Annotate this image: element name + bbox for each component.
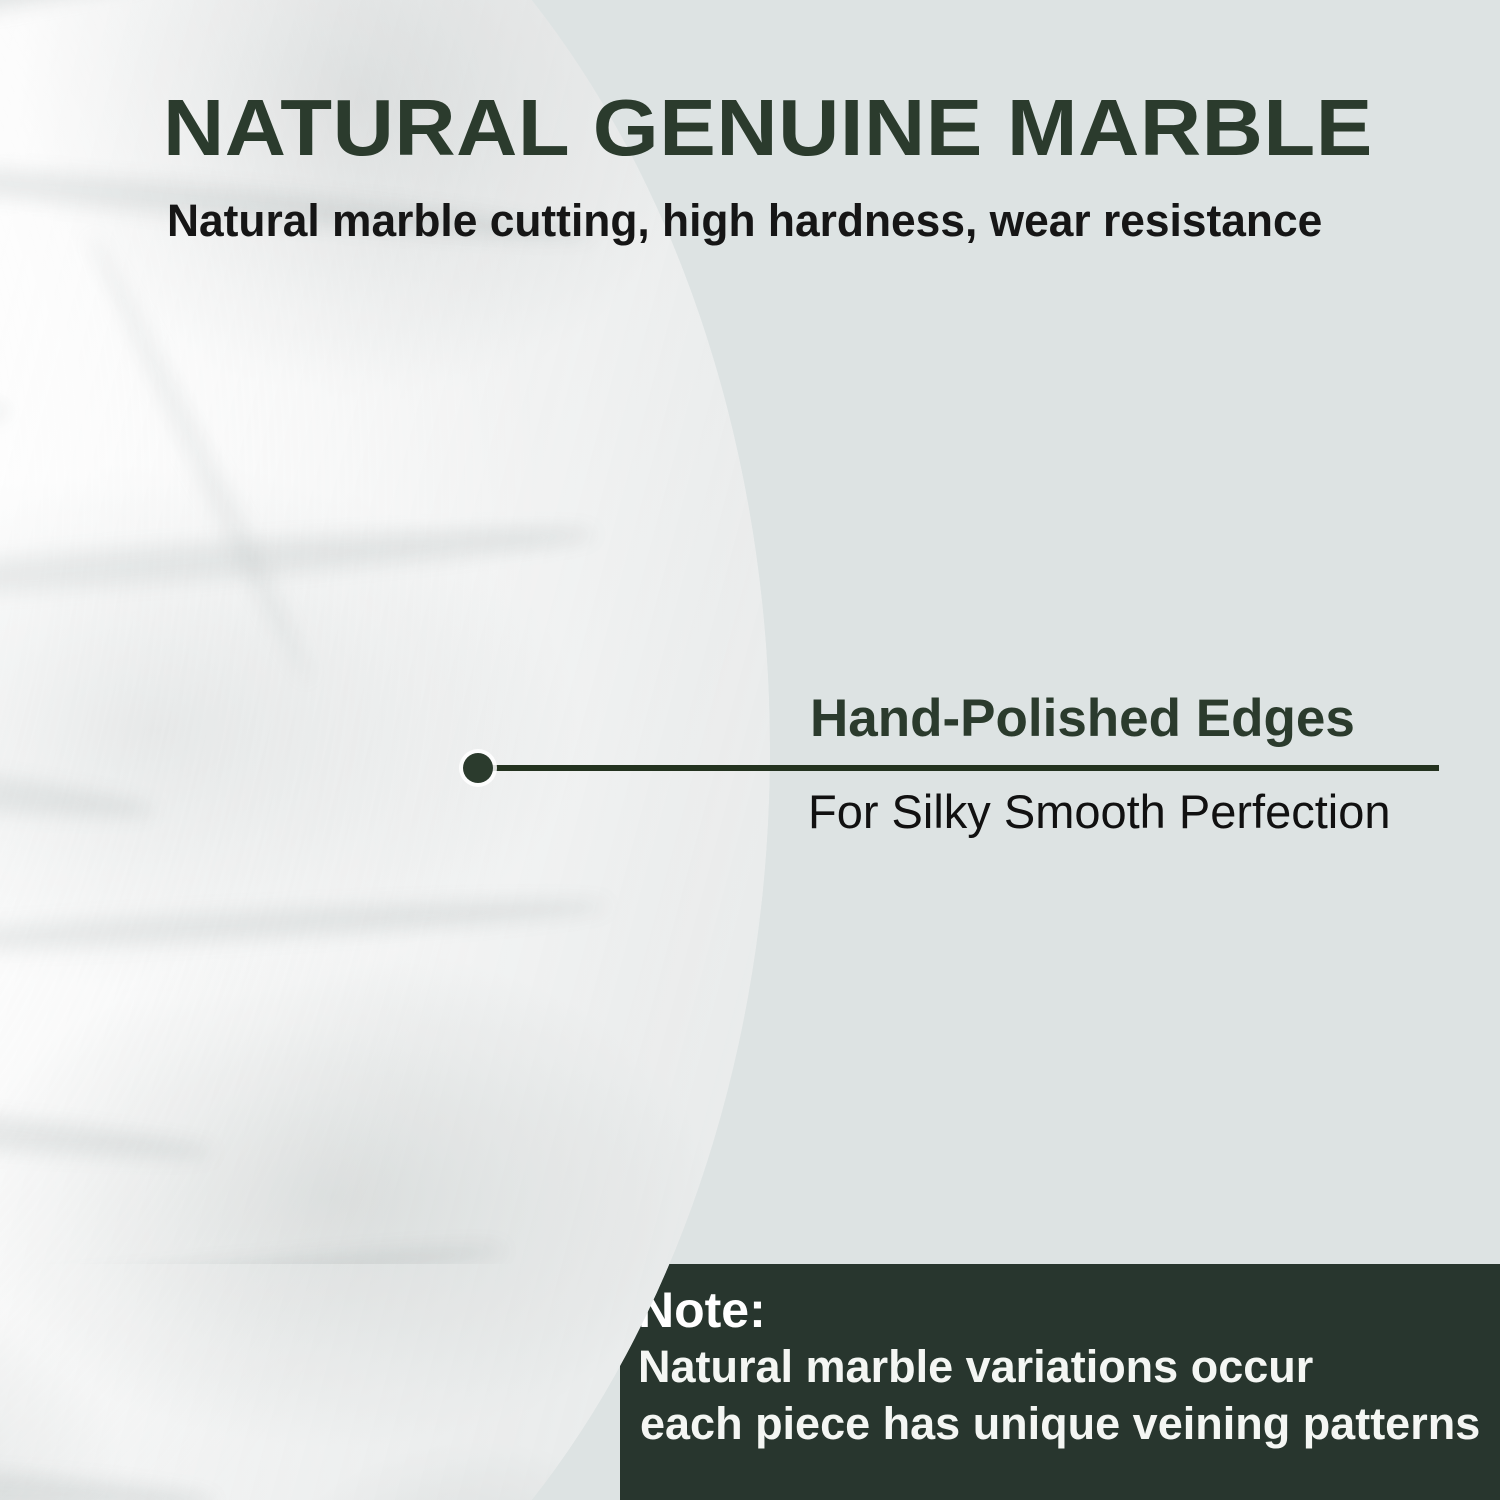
note-content: Note: Natural marble variations occur ea… — [638, 1282, 1500, 1452]
note-line-1: Natural marble variations occur — [638, 1338, 1500, 1395]
callout-subtitle: For Silky Smooth Perfection — [808, 785, 1478, 839]
leader-line — [487, 765, 1439, 771]
note-line-2: each piece has unique veining patterns — [640, 1395, 1500, 1452]
callout-title: Hand-Polished Edges — [810, 690, 1450, 748]
page-title: NATURAL GENUINE MARBLE — [163, 88, 1424, 168]
dot-marker-icon — [463, 753, 493, 783]
page-subtitle: Natural marble cutting, high hardness, w… — [167, 196, 1329, 246]
note-label: Note: — [638, 1282, 1500, 1338]
product-feature-graphic: NATURAL GENUINE MARBLE Natural marble cu… — [0, 0, 1500, 1500]
note-panel: Note: Natural marble variations occur ea… — [620, 1264, 1500, 1500]
